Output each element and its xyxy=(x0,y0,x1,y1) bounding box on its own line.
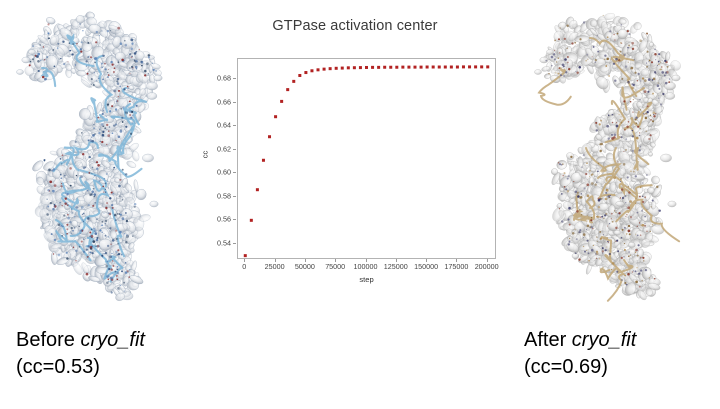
cryoem-density-before-svg xyxy=(2,8,202,318)
y-tick-mark xyxy=(233,219,236,220)
data-point xyxy=(468,65,471,68)
y-tick-label: 0.66 xyxy=(200,97,231,106)
data-point xyxy=(401,66,404,69)
data-point xyxy=(474,65,477,68)
data-point xyxy=(432,66,435,69)
caption-before-value: (cc=0.53) xyxy=(16,354,145,381)
y-tick-label: 0.58 xyxy=(200,191,231,200)
data-point xyxy=(413,66,416,69)
data-point xyxy=(280,100,283,103)
data-point xyxy=(347,66,350,69)
y-tick-label: 0.62 xyxy=(200,144,231,153)
cryoem-density-after-svg xyxy=(520,8,720,318)
data-point xyxy=(274,115,277,118)
plot-area xyxy=(237,58,496,259)
data-point xyxy=(389,66,392,69)
data-point xyxy=(341,67,344,70)
data-point xyxy=(450,66,453,69)
caption-after-value: (cc=0.69) xyxy=(524,354,636,381)
data-point xyxy=(486,65,489,68)
y-tick-label: 0.56 xyxy=(200,215,231,224)
x-tick-mark xyxy=(366,259,367,262)
y-tick-mark xyxy=(233,125,236,126)
x-tick-mark xyxy=(487,259,488,262)
data-point xyxy=(426,66,429,69)
data-point xyxy=(407,66,410,69)
y-tick-mark xyxy=(233,243,236,244)
molecule-view-before xyxy=(2,8,202,318)
data-point xyxy=(304,71,307,74)
chart-title: GTPase activation center xyxy=(200,18,510,34)
data-point xyxy=(323,68,326,71)
data-point xyxy=(365,66,368,69)
x-tick-mark xyxy=(396,259,397,262)
data-point xyxy=(262,159,265,162)
caption-before-prefix: Before xyxy=(16,329,80,351)
y-tick-label: 0.60 xyxy=(200,168,231,177)
data-point xyxy=(256,188,259,191)
data-point xyxy=(444,66,447,69)
data-point xyxy=(462,65,465,68)
y-tick-mark xyxy=(233,78,236,79)
data-point xyxy=(371,66,374,69)
data-point xyxy=(456,66,459,69)
scatter-series xyxy=(238,59,495,258)
caption-after-italic: cryo_fit xyxy=(572,329,636,351)
data-point xyxy=(480,65,483,68)
x-tick-mark xyxy=(305,259,306,262)
x-tick-mark xyxy=(335,259,336,262)
y-tick-mark xyxy=(233,102,236,103)
data-point xyxy=(310,69,313,72)
data-point xyxy=(317,68,320,71)
y-tick-label: 0.54 xyxy=(200,238,231,247)
data-point xyxy=(268,135,271,138)
x-tick-mark xyxy=(426,259,427,262)
caption-before-italic: cryo_fit xyxy=(80,329,144,351)
x-axis-label: step xyxy=(237,275,496,284)
y-tick-label: 0.64 xyxy=(200,121,231,130)
data-point xyxy=(377,66,380,69)
y-tick-mark xyxy=(233,172,236,173)
y-tick-mark xyxy=(233,196,236,197)
data-point xyxy=(298,74,301,77)
caption-before: Before cryo_fit (cc=0.53) xyxy=(16,327,145,381)
molecule-view-after xyxy=(520,8,720,318)
data-point xyxy=(395,66,398,69)
data-point xyxy=(292,80,295,83)
data-point xyxy=(286,88,289,91)
data-point xyxy=(250,219,253,222)
data-point xyxy=(420,66,423,69)
y-tick-mark xyxy=(233,149,236,150)
x-tick-label: 200000 xyxy=(465,262,509,271)
data-point xyxy=(359,66,362,69)
y-tick-label: 0.68 xyxy=(200,74,231,83)
data-point xyxy=(383,66,386,69)
data-point xyxy=(244,254,247,257)
data-point xyxy=(353,66,356,69)
caption-after: After cryo_fit (cc=0.69) xyxy=(524,327,636,381)
data-point xyxy=(335,67,338,70)
cc-vs-step-chart: GTPase activation center cc 0.540.560.58… xyxy=(200,10,510,300)
x-tick-mark xyxy=(244,259,245,262)
caption-after-prefix: After xyxy=(524,329,572,351)
data-point xyxy=(438,66,441,69)
data-point xyxy=(329,67,332,70)
x-tick-mark xyxy=(275,259,276,262)
x-tick-mark xyxy=(456,259,457,262)
